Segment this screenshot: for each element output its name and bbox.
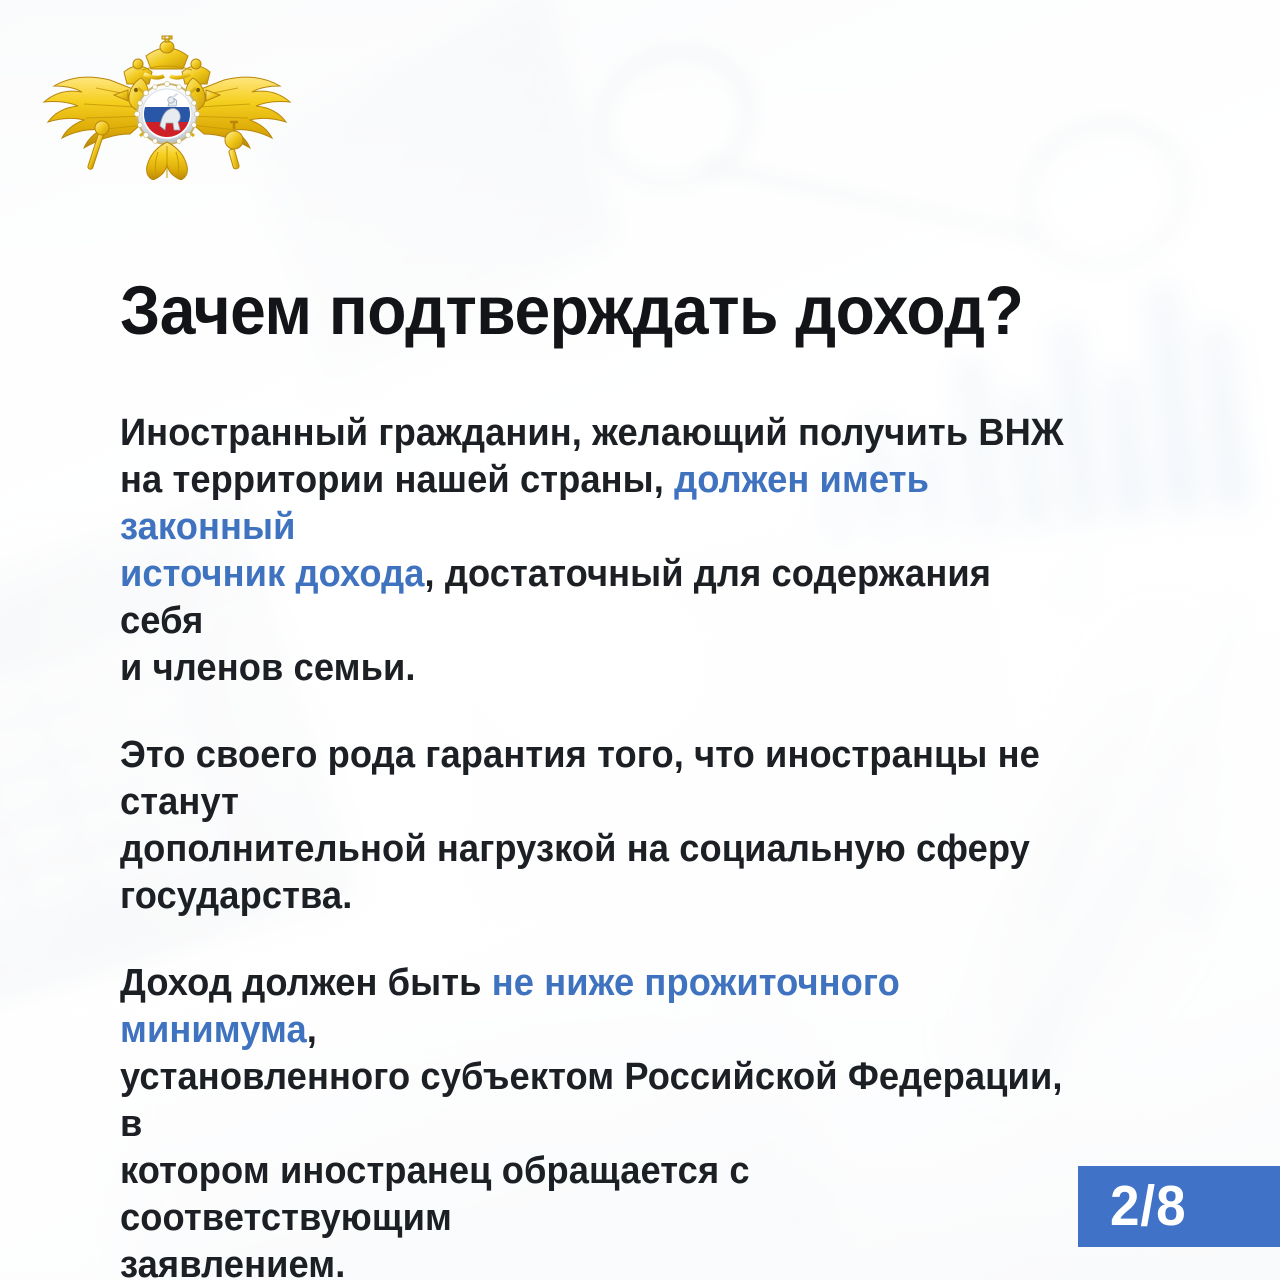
plain-text: Это своего рода гарантия того, что иност… — [120, 734, 1040, 917]
page-title: Зачем подтверждать доход? — [120, 276, 1059, 345]
page-counter-label: 2/8 — [1110, 1178, 1186, 1235]
mvd-eagle-emblem-icon — [38, 30, 296, 180]
slide-canvas: Зачем подтверждать доход? Иностранный гр… — [0, 0, 1280, 1280]
paragraph-3: Доход должен быть не ниже прожиточного м… — [120, 960, 1085, 1280]
paragraph-1: Иностранный гражданин, желающий получить… — [120, 410, 1085, 692]
paragraph-2: Это своего рода гарантия того, что иност… — [120, 732, 1085, 920]
slide-content: Зачем подтверждать доход? Иностранный гр… — [0, 0, 1280, 1280]
page-counter-badge: 2/8 — [1078, 1166, 1280, 1247]
plain-text: Доход должен быть — [120, 962, 492, 1004]
body-copy: Иностранный гражданин, желающий получить… — [120, 410, 1130, 1280]
